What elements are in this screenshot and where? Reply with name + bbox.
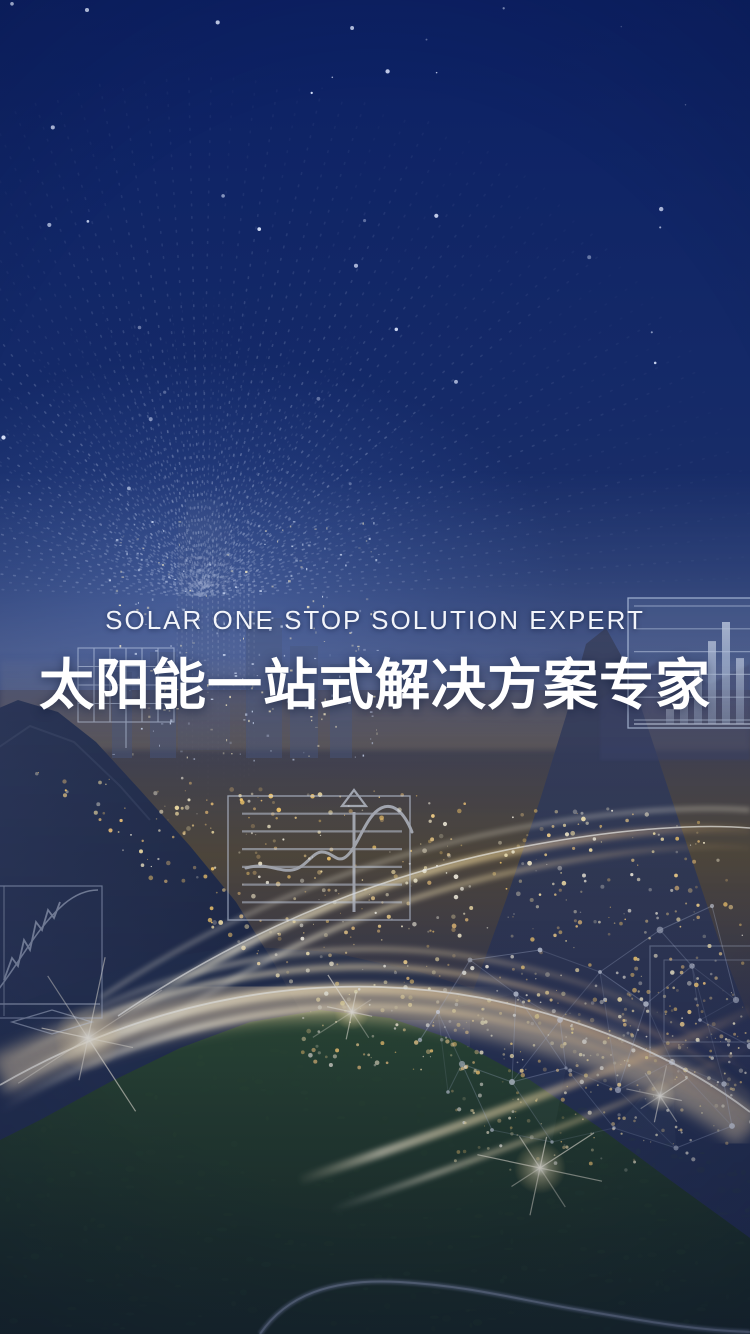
banner-stage: SOLAR ONE STOP SOLUTION EXPERT 太阳能一站式解决方… — [0, 0, 750, 1334]
vignette-overlay — [0, 0, 750, 1334]
